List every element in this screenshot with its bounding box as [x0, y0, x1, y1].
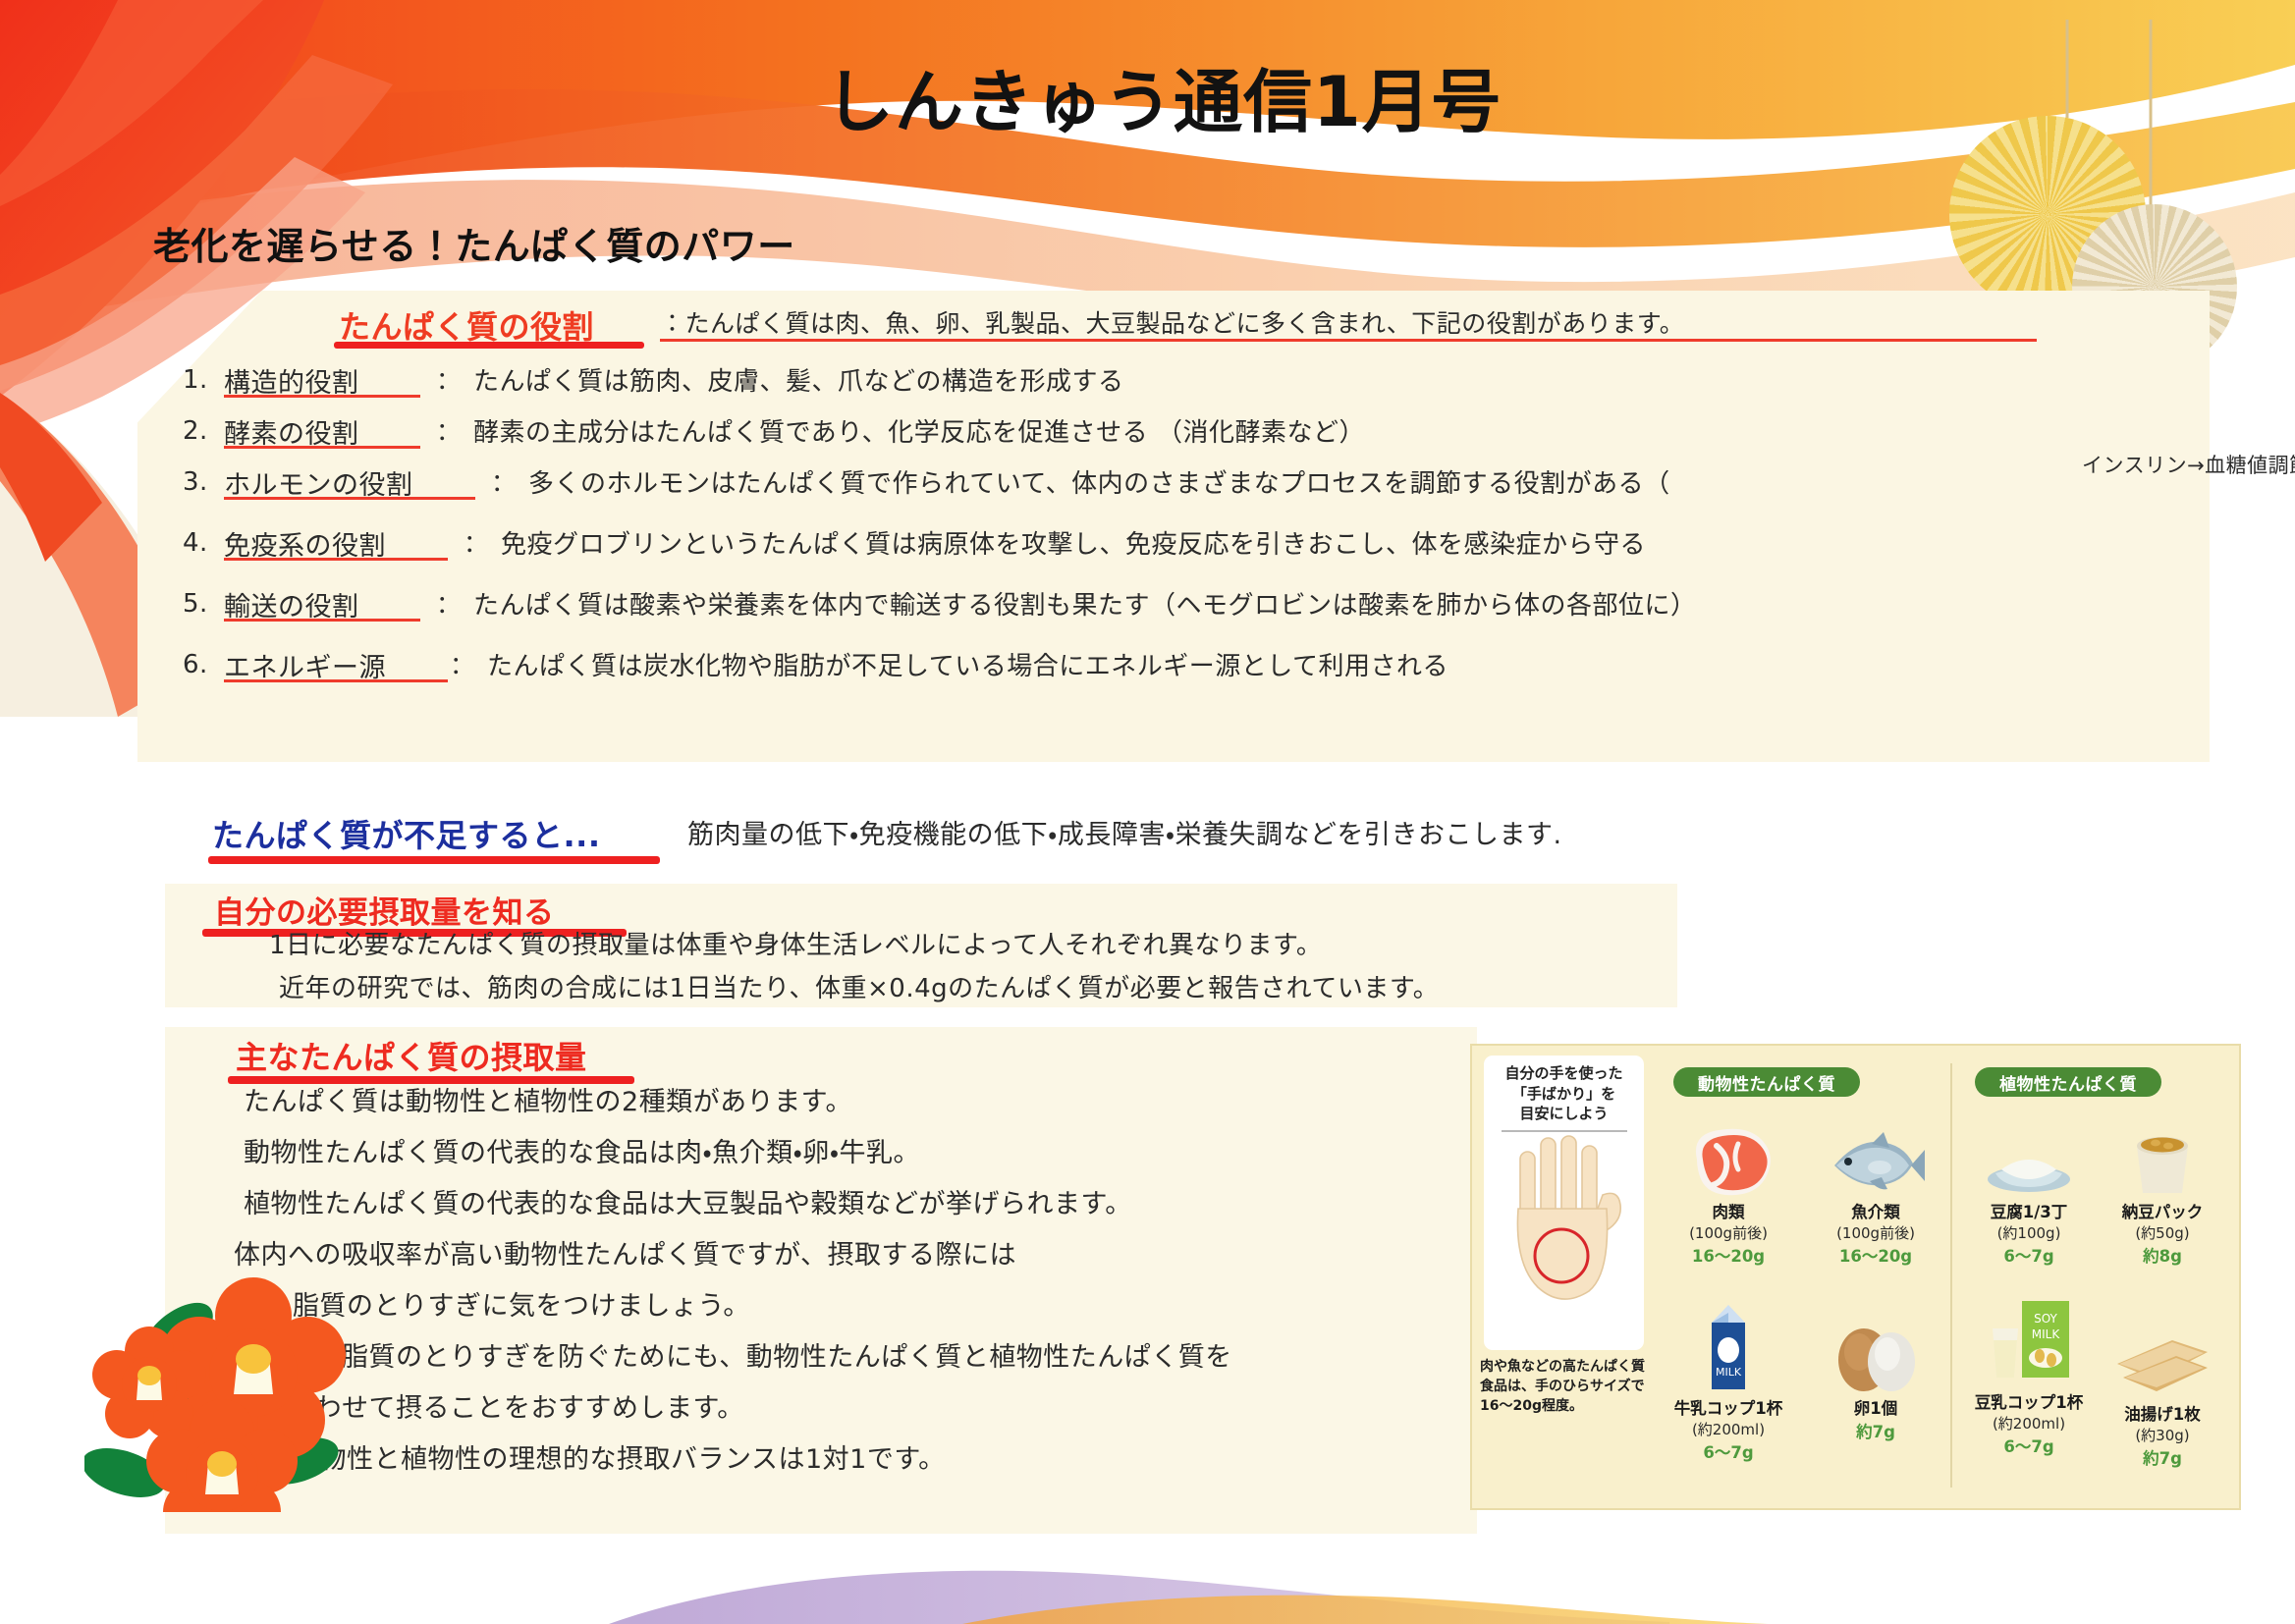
- egg-icon: [1802, 1303, 1949, 1393]
- sources-line: 動物性たんぱく質の代表的な食品は肉・魚介類・卵・牛乳。: [244, 1131, 920, 1169]
- food-item-fish: 魚介類 (100g前後) 16〜20g: [1802, 1107, 1949, 1267]
- food-amount: (100g前後): [1655, 1222, 1802, 1243]
- role-description: 酵素の主成分はたんぱく質であり、化学反応を促進させる （消化酵素など）: [473, 412, 1365, 449]
- role-separator: ：: [491, 463, 517, 499]
- food-name: 豆腐1/3丁: [1955, 1199, 2103, 1222]
- role-separator: ：: [436, 412, 462, 448]
- food-amount: 約7g: [1802, 1419, 1949, 1442]
- hand-measure-caption: 肉や魚などの高たんぱく質食品は、手のひらサイズで16〜20g程度。: [1480, 1358, 1649, 1417]
- role-number: 6.: [183, 650, 208, 679]
- sources-line: 動物性と植物性の理想的な摂取バランスは1対1です。: [293, 1437, 946, 1476]
- role-separator: ：: [450, 646, 475, 681]
- food-name: 油揚げ1枚: [2089, 1401, 2236, 1425]
- role-label-underline: [224, 497, 475, 500]
- sources-heading: 主なたんぱく質の摂取量: [236, 1033, 587, 1078]
- sources-line: たんぱく質は動物性と植物性の2種類があります。: [244, 1080, 852, 1118]
- food-item-meat: 肉類 (100g前後) 16〜20g: [1655, 1107, 1802, 1267]
- hand-guide-line-3: 目安にしよう: [1519, 1104, 1608, 1124]
- role-number: 2.: [183, 416, 208, 446]
- milk-icon: MILK: [1655, 1303, 1802, 1393]
- aburaage-icon: [2089, 1309, 2236, 1399]
- food-name: 牛乳コップ1杯: [1655, 1395, 1802, 1419]
- sources-line: 植物性たんぱく質の代表的な食品は大豆製品や穀類などが挙げられます。: [244, 1182, 1132, 1220]
- role-separator: ：: [436, 361, 462, 397]
- palm-hand-icon: [1493, 1134, 1636, 1317]
- deficiency-heading-underline: [208, 856, 660, 864]
- role-separator: ：: [436, 585, 462, 621]
- svg-text:MILK: MILK: [1716, 1366, 1742, 1379]
- food-protein: 6〜7g: [1655, 1439, 1802, 1463]
- role-separator: ：: [464, 524, 489, 560]
- role-label-underline: [224, 395, 420, 398]
- food-protein: 6〜7g: [1955, 1243, 2103, 1267]
- role-description: たんぱく質は筋肉、皮膚、髪、爪などの構造を形成する: [473, 361, 1124, 398]
- natto-icon: [2089, 1107, 2236, 1197]
- roles-heading-underline: [334, 342, 644, 349]
- meat-icon: [1655, 1107, 1802, 1197]
- food-amount: (約30g): [2089, 1425, 2236, 1445]
- role-label-underline: [224, 446, 420, 449]
- deficiency-heading: たんぱく質が不足すると...: [212, 811, 600, 856]
- food-name: 豆乳コップ1杯: [1955, 1389, 2103, 1413]
- roles-intro-underline: [660, 339, 2037, 342]
- role-label-underline: [224, 679, 448, 682]
- sources-line: 組み合わせて摂ることをおすすめします。: [234, 1386, 744, 1425]
- role-description: 免疫グロブリンというたんぱく質は病原体を攻撃し、免疫反応を引きおこし、体を感染症…: [501, 524, 1646, 561]
- svg-text:MILK: MILK: [2032, 1327, 2061, 1341]
- role-number: 4.: [183, 528, 208, 558]
- card-divider: [1502, 1130, 1627, 1132]
- food-amount: (約200ml): [1655, 1419, 1802, 1439]
- category-badge-animal: 動物性たんぱく質: [1673, 1067, 1860, 1097]
- food-item-milk: MILK 牛乳コップ1杯 (約200ml) 6〜7g: [1655, 1303, 1802, 1463]
- role-number: 5.: [183, 589, 208, 619]
- food-item-natto: 納豆パック (約50g) 約8g: [2089, 1107, 2236, 1267]
- svg-text:SOY: SOY: [2034, 1312, 2057, 1326]
- food-item-egg: 卵1個 約7g: [1802, 1303, 1949, 1442]
- role-description: 多くのホルモンはたんぱく質で作られていて、体内のさまざまなプロセスを調節する役割…: [528, 463, 1670, 500]
- roles-intro-text: ：たんぱく質は肉、魚、卵、乳製品、大豆製品などに多く含まれ、下記の役割があります…: [660, 304, 1684, 340]
- intake-line-2: 近年の研究では、筋肉の合成には1日当たり、体重×0.4gのたんぱく質が必要と報告…: [279, 968, 1439, 1004]
- hand-measure-card: 自分の手を使った 「手ばかり」を 目安にしよう: [1484, 1056, 1644, 1350]
- paper-fan-yellow: [1949, 20, 2264, 314]
- role-label-underline: [224, 558, 448, 561]
- food-name: 魚介類: [1802, 1199, 1949, 1222]
- role-description: たんぱく質は酸素や栄養素を体内で輸送する役割も果たす（ヘモグロビンは酸素を肺から…: [473, 585, 1697, 622]
- food-amount: (約200ml): [1955, 1413, 2103, 1434]
- newsletter-page: しんきゅう通信1月号 老化を遅らせる！たんぱく質のパワー たんぱく質の役割 ：た…: [0, 0, 2295, 1624]
- nutrition-info-panel: 自分の手を使った 「手ばかり」を 目安にしよう: [1470, 1044, 2241, 1510]
- page-subtitle: 老化を遅らせる！たんぱく質のパワー: [153, 216, 795, 270]
- food-name: 納豆パック: [2089, 1199, 2236, 1222]
- role-note-insulin: インスリン→血糖値調節: [2082, 450, 2295, 479]
- food-protein: 約7g: [2089, 1445, 2236, 1469]
- food-protein: 16〜20g: [1802, 1243, 1949, 1267]
- sources-line: 体内への吸収率が高い動物性たんぱく質ですが、摂取する際には: [234, 1233, 1016, 1272]
- sources-line: 脂質のとりすぎを防ぐためにも、動物性たんぱく質と植物性たんぱく質を: [342, 1335, 1232, 1374]
- food-amount: (約100g): [1955, 1222, 2103, 1243]
- group-divider: [1950, 1063, 1952, 1488]
- food-amount: (約50g): [2089, 1222, 2236, 1243]
- intake-line-1: 1日に必要なたんぱく質の摂取量は体重や身体生活レベルによって人それぞれ異なります…: [269, 925, 1322, 961]
- food-protein: 16〜20g: [1655, 1243, 1802, 1267]
- role-label-underline: [224, 619, 420, 622]
- footer-wave-decoration: [0, 1506, 2295, 1624]
- food-amount: (100g前後): [1802, 1222, 1949, 1243]
- food-item-soymilk: SOY MILK 豆乳コップ1杯 (約200ml) 6〜7g: [1955, 1297, 2103, 1457]
- tofu-icon: [1955, 1107, 2103, 1197]
- food-protein: 約8g: [2089, 1243, 2236, 1267]
- food-item-aburaage: 油揚げ1枚 (約30g) 約7g: [2089, 1309, 2236, 1469]
- hand-guide-line-1: 自分の手を使った: [1504, 1063, 1622, 1084]
- soymilk-icon: SOY MILK: [1955, 1297, 2103, 1387]
- sources-line: 脂質のとりすぎに気をつけましょう。: [293, 1284, 750, 1323]
- page-title: しんきゅう通信1月号: [825, 47, 1502, 146]
- food-name: 肉類: [1655, 1199, 1802, 1222]
- role-number: 3.: [183, 467, 208, 497]
- food-protein: 6〜7g: [1955, 1434, 2103, 1457]
- deficiency-text: 筋肉量の低下・免疫機能の低下・成長障害・栄養失調などを引きおこします.: [687, 813, 1562, 851]
- food-name: 卵1個: [1802, 1395, 1949, 1419]
- hand-guide-line-2: 「手ばかり」を: [1512, 1084, 1615, 1105]
- category-badge-plant: 植物性たんぱく質: [1975, 1067, 2161, 1097]
- food-item-tofu: 豆腐1/3丁 (約100g) 6〜7g: [1955, 1107, 2103, 1267]
- role-description: たんぱく質は炭水化物や脂肪が不足している場合にエネルギー源として利用される: [487, 646, 1448, 682]
- fish-icon: [1802, 1107, 1949, 1197]
- role-number: 1.: [183, 365, 208, 395]
